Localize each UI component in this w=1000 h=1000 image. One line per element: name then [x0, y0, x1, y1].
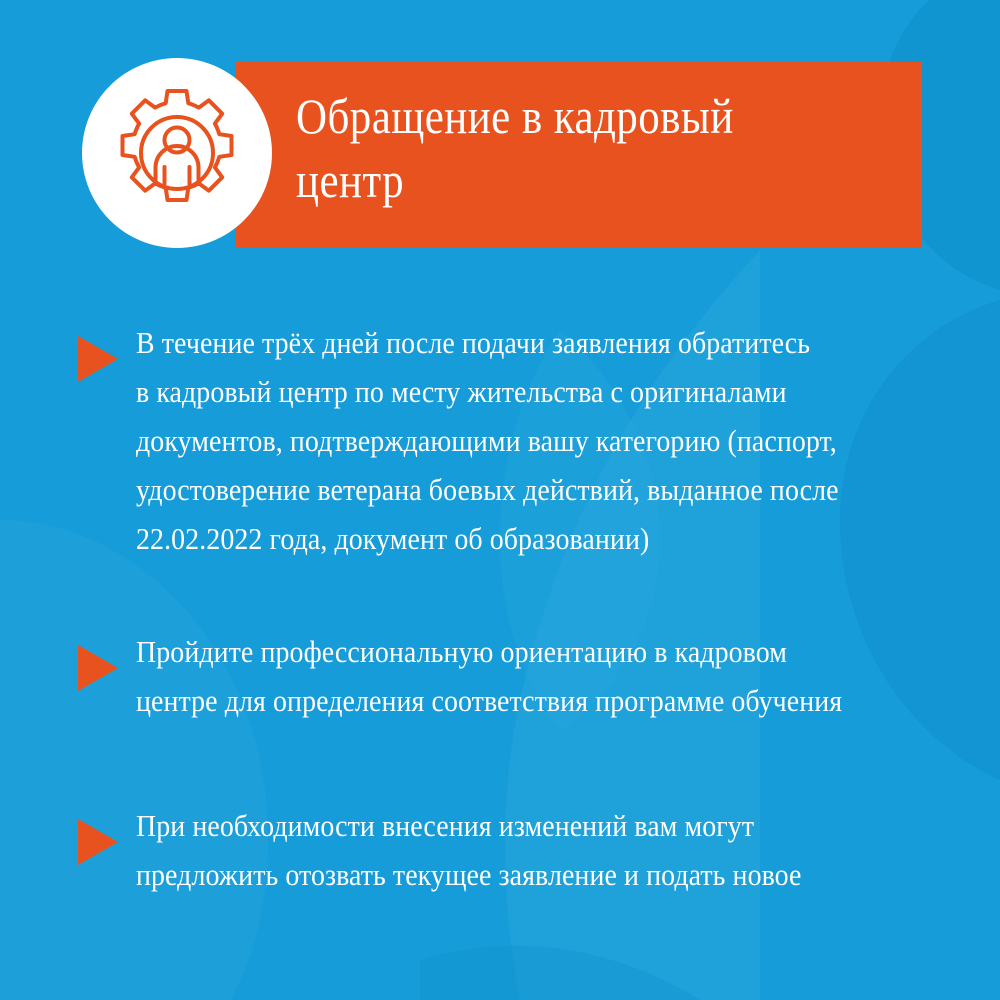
bullet-list: В течение трёх дней после подачи заявлен…: [0, 318, 1000, 963]
infographic-poster: Обращение в кадровый центр В течение трё…: [0, 0, 1000, 1000]
page-title: Обращение в кадровый центр: [296, 84, 812, 212]
triangle-right-marker-icon: [78, 819, 118, 865]
list-item: Пройдите профессиональную ориентацию в к…: [0, 627, 1000, 725]
list-item: В течение трёх дней после подачи заявлен…: [0, 318, 1000, 563]
triangle-right-marker-icon: [78, 645, 118, 691]
triangle-right-marker-icon: [78, 336, 118, 382]
list-item-text: Пройдите профессиональную ориентацию в к…: [136, 627, 914, 725]
logo-badge: [82, 58, 272, 248]
list-item-text: При необходимости внесения изменений вам…: [136, 801, 914, 899]
list-item: При необходимости внесения изменений вам…: [0, 801, 1000, 899]
list-item-text: В течение трёх дней после подачи заявлен…: [136, 318, 914, 563]
header: Обращение в кадровый центр: [0, 0, 1000, 270]
gear-person-icon: [109, 85, 245, 221]
